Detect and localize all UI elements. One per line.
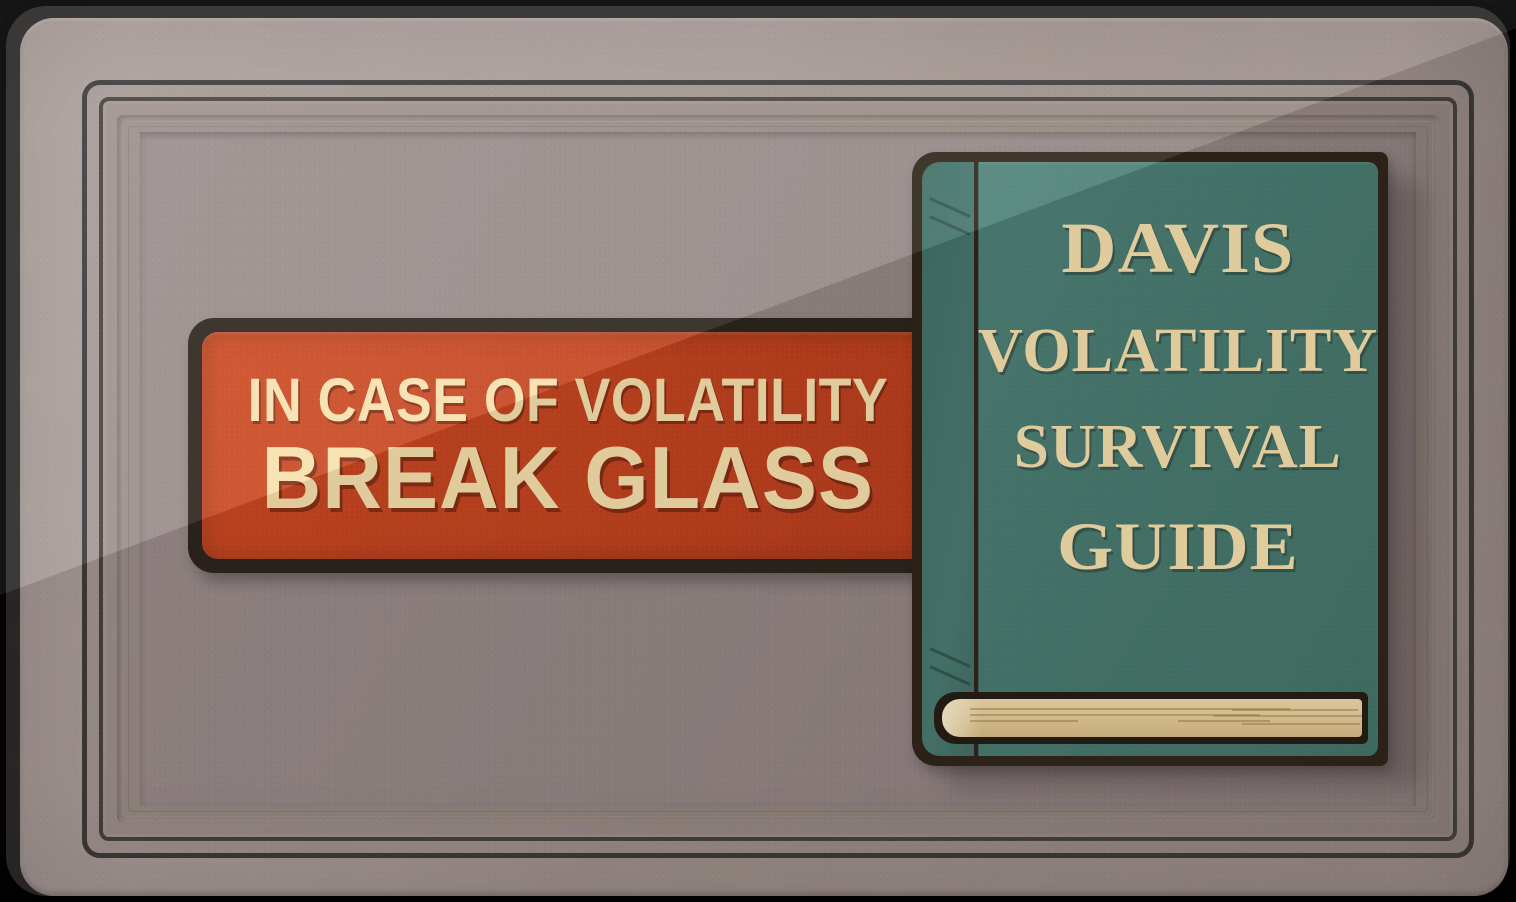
- sign-face: IN CASE OF VOLATILITY BREAK GLASS: [202, 332, 934, 559]
- spine-band-icon: [929, 665, 970, 686]
- page-edge-highlight: [942, 699, 982, 737]
- break-glass-case-scene: IN CASE OF VOLATILITY BREAK GLASS DAVIS …: [0, 0, 1516, 902]
- book-title-line-3: SURVIVAL: [1014, 416, 1342, 478]
- page-line: [1214, 715, 1362, 717]
- spine-band-icon: [929, 215, 970, 236]
- page-line: [970, 720, 1078, 722]
- book-spine: [922, 162, 974, 756]
- book-title-line-4: GUIDE: [1057, 512, 1299, 580]
- page-line: [1178, 720, 1270, 722]
- spine-band-icon: [929, 197, 970, 218]
- page-line: [1242, 723, 1360, 725]
- sign-headline: IN CASE OF VOLATILITY: [248, 369, 888, 431]
- book-title-line-2: VOLATILITY: [978, 320, 1378, 382]
- page-line: [1232, 709, 1358, 711]
- survival-guide-book[interactable]: DAVIS VOLATILITY SURVIVAL GUIDE: [912, 152, 1388, 766]
- sign-callout: BREAK GLASS: [262, 433, 874, 523]
- book-page-block: [942, 699, 1362, 737]
- book-title-line-1: DAVIS: [1062, 212, 1295, 284]
- book-page-block-recess: [934, 692, 1368, 744]
- spine-band-icon: [929, 647, 970, 668]
- break-glass-sign[interactable]: IN CASE OF VOLATILITY BREAK GLASS: [188, 318, 948, 573]
- book-front-cover: DAVIS VOLATILITY SURVIVAL GUIDE: [978, 162, 1378, 756]
